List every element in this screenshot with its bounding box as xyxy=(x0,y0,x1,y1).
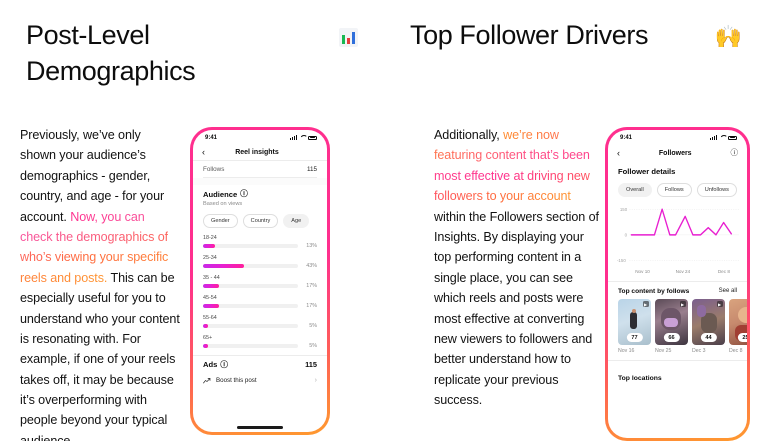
nav-title: Followers xyxy=(620,150,731,157)
content-date: Nov 16 xyxy=(618,348,651,354)
bar-row: 65+ 5% xyxy=(203,335,317,350)
nav-bar: ‹ Reel insights xyxy=(193,145,327,161)
content-thumbnail[interactable]: ▶ 44 xyxy=(692,299,725,345)
bar-category-label: 18-24 xyxy=(203,235,317,241)
chip-unfollows[interactable]: Unfollows xyxy=(697,183,737,197)
line-chart-svg: 150 0 -150 Nov 10 Nov 24 Dec 8 xyxy=(616,201,739,281)
y-tick-top: 150 xyxy=(620,207,628,212)
info-icon[interactable]: ⓘ xyxy=(220,361,228,369)
bar-category-label: 35 - 44 xyxy=(203,275,317,281)
page-title-right: Top Follower Drivers xyxy=(410,18,648,54)
bar-category-label: 25-34 xyxy=(203,255,317,261)
content-card-item[interactable]: ▶ 25 Dec 8 xyxy=(729,299,747,354)
bar-value-label: 5% xyxy=(304,323,317,329)
bar-track xyxy=(203,284,298,287)
bar-row: 18-24 13% xyxy=(203,235,317,250)
followers-line-series xyxy=(631,209,731,235)
reel-icon: ▶ xyxy=(680,301,686,307)
left-copy-part2: This can be especially useful for you to… xyxy=(20,271,180,441)
follower-filter-chips: Overall Follows Unfollows xyxy=(608,183,747,197)
chip-gender[interactable]: Gender xyxy=(203,214,238,228)
nav-title: Reel insights xyxy=(205,149,309,156)
content-thumbnail[interactable]: ▶ 25 xyxy=(729,299,747,345)
ads-value: 115 xyxy=(305,360,317,369)
bar-value-label: 5% xyxy=(304,343,317,349)
chip-follows[interactable]: Follows xyxy=(657,183,692,197)
bar-track xyxy=(203,344,298,347)
bar-category-label: 65+ xyxy=(203,335,317,341)
bar-track xyxy=(203,244,298,247)
bar-row: 35 - 44 17% xyxy=(203,275,317,290)
bar-value-label: 13% xyxy=(304,243,317,249)
info-icon[interactable]: ⓘ xyxy=(731,149,739,157)
phone-mockup-right: 9:41 ‹ Followers ⓘ Follower details xyxy=(605,127,750,441)
bar-fill xyxy=(203,344,208,347)
x-tick-1: Nov 24 xyxy=(676,269,691,275)
content-card-item[interactable]: ▶ 44 Dec 3 xyxy=(692,299,725,354)
boost-label: Boost this post xyxy=(216,377,310,384)
followers-line-chart: 150 0 -150 Nov 10 Nov 24 Dec 8 xyxy=(608,197,747,281)
status-bar: 9:41 xyxy=(193,130,327,145)
audience-title: Audience xyxy=(203,190,237,199)
right-panel: Top Follower Drivers 🙌 Additionally, we’… xyxy=(384,0,768,441)
status-time: 9:41 xyxy=(205,135,217,141)
page-title-left: Post-Level Demographics xyxy=(26,18,241,89)
right-header: Top Follower Drivers 🙌 xyxy=(384,0,768,54)
slide-root: Post-Level Demographics Previously, we’v… xyxy=(0,0,768,441)
follows-count: 66 xyxy=(663,333,679,341)
bar-fill xyxy=(203,284,219,287)
audience-heading-block: Audience ⓘ Based on views xyxy=(193,185,327,207)
phone-screen-followers: 9:41 ‹ Followers ⓘ Follower details xyxy=(608,130,747,438)
left-body-copy: Previously, we’ve only shown your audien… xyxy=(20,125,180,441)
audience-title-row: Audience ⓘ xyxy=(203,190,317,199)
phone-screen-reel-insights: 9:41 ‹ Reel insights Follows 115 xyxy=(193,130,327,432)
phone-mockup-left: 9:41 ‹ Reel insights Follows 115 xyxy=(190,127,330,435)
content-date: Nov 25 xyxy=(655,348,688,354)
top-content-header: Top content by follows See all xyxy=(608,282,747,299)
bar-fill xyxy=(203,264,244,267)
trending-up-icon xyxy=(203,378,211,384)
right-body-copy: Additionally, we’re now featuring conten… xyxy=(434,125,599,410)
bar-fill xyxy=(203,244,215,247)
content-card-item[interactable]: ▶ 66 Nov 25 xyxy=(655,299,688,354)
right-copy-part1: Additionally, xyxy=(434,128,503,142)
bar-track xyxy=(203,304,298,307)
bar-chart-emoji xyxy=(339,28,358,47)
content-date: Dec 3 xyxy=(692,348,725,354)
bar-row: 45-54 17% xyxy=(203,295,317,310)
content-thumbnail[interactable]: ▶ 77 xyxy=(618,299,651,345)
bar-row: 25-34 43% xyxy=(203,255,317,270)
chevron-right-icon[interactable]: › xyxy=(315,377,317,384)
cellular-signal-icon xyxy=(290,135,297,140)
bar-fill xyxy=(203,324,208,327)
follows-count: 44 xyxy=(700,333,716,341)
age-distribution-chart: 18-24 13% 25-34 43% 35 xyxy=(193,228,327,350)
content-date: Dec 8 xyxy=(729,348,747,354)
section-gap xyxy=(193,178,327,185)
right-copy-part2: within the Followers section of Insights… xyxy=(434,210,599,408)
home-indicator xyxy=(237,426,283,429)
chip-country[interactable]: Country xyxy=(243,214,279,228)
wifi-icon xyxy=(720,135,726,140)
x-tick-2: Dec 8 xyxy=(718,269,730,275)
boost-post-row[interactable]: Boost this post › xyxy=(193,373,327,388)
top-content-title: Top content by follows xyxy=(618,288,689,295)
chip-age[interactable]: Age xyxy=(283,214,309,228)
audience-filter-chips: Gender Country Age xyxy=(193,214,327,228)
follows-count: 25 xyxy=(737,333,747,341)
follower-details-title: Follower details xyxy=(618,167,737,176)
y-tick-bottom: -150 xyxy=(617,258,626,263)
bar-category-label: 55-64 xyxy=(203,315,317,321)
status-time: 9:41 xyxy=(620,135,632,141)
wifi-icon xyxy=(300,135,306,140)
bar-fill xyxy=(203,304,219,307)
follows-count: 77 xyxy=(626,333,642,341)
y-tick-mid: 0 xyxy=(625,232,628,237)
reel-icon: ▶ xyxy=(643,301,649,307)
ads-title-row: Ads ⓘ xyxy=(203,360,228,369)
follows-label: Follows xyxy=(203,166,224,173)
cellular-signal-icon xyxy=(710,135,717,140)
info-icon[interactable]: ⓘ xyxy=(240,190,248,198)
content-thumbnail[interactable]: ▶ 66 xyxy=(655,299,688,345)
audience-subtitle: Based on views xyxy=(203,201,317,207)
follows-row: Follows 115 xyxy=(193,161,327,177)
battery-icon xyxy=(308,136,317,141)
left-header: Post-Level Demographics xyxy=(0,0,384,89)
battery-icon xyxy=(728,136,737,141)
top-content-carousel[interactable]: ▶ 77 Nov 16 ▶ 66 Nov 25 xyxy=(608,299,747,354)
x-tick-0: Nov 10 xyxy=(635,269,650,275)
top-locations-title: Top locations xyxy=(618,375,662,382)
bar-row: 55-64 5% xyxy=(203,315,317,330)
chip-overall[interactable]: Overall xyxy=(618,183,652,197)
bar-value-label: 17% xyxy=(304,303,317,309)
nav-bar: ‹ Followers ⓘ xyxy=(608,145,747,161)
see-all-link[interactable]: See all xyxy=(719,288,737,294)
bar-category-label: 45-54 xyxy=(203,295,317,301)
follower-details-heading: Follower details xyxy=(608,161,747,176)
follows-value: 115 xyxy=(307,166,317,173)
status-indicators xyxy=(290,135,317,140)
bar-track xyxy=(203,324,298,327)
top-locations-section[interactable]: Top locations xyxy=(608,360,747,385)
ads-row: Ads ⓘ 115 xyxy=(193,355,327,373)
raising-hands-emoji: 🙌 xyxy=(715,26,742,48)
content-card-item[interactable]: ▶ 77 Nov 16 xyxy=(618,299,651,354)
ads-label: Ads xyxy=(203,360,217,369)
status-indicators xyxy=(710,135,737,140)
left-panel: Post-Level Demographics Previously, we’v… xyxy=(0,0,384,441)
status-bar: 9:41 xyxy=(608,130,747,145)
bar-track xyxy=(203,264,298,267)
bar-value-label: 17% xyxy=(304,283,317,289)
reel-icon: ▶ xyxy=(717,301,723,307)
bar-value-label: 43% xyxy=(304,263,317,269)
